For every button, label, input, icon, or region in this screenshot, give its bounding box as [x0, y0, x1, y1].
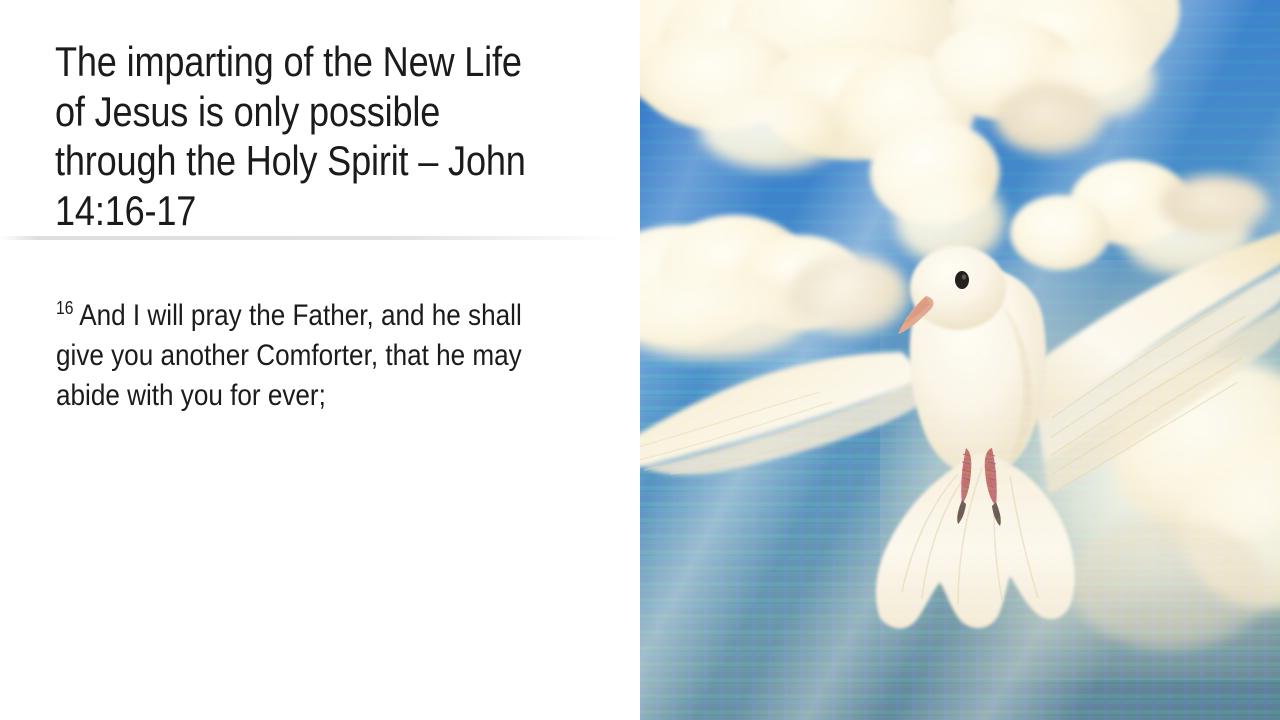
dove-photo	[640, 0, 1280, 720]
cloud-puff	[995, 85, 1105, 155]
scripture-body: 16 And I will pray the Father, and he sh…	[56, 296, 552, 417]
scripture-text: And I will pray the Father, and he shall…	[56, 299, 522, 412]
presentation-slide: The imparting of the New Life of Jesus i…	[0, 0, 1280, 720]
slide-title: The imparting of the New Life of Jesus i…	[55, 37, 541, 235]
cloud-puff	[1010, 195, 1110, 270]
cloud-puff	[1160, 175, 1270, 235]
verse-number: 16	[56, 298, 73, 318]
title-divider	[0, 236, 620, 240]
text-panel: The imparting of the New Life of Jesus i…	[0, 0, 640, 720]
cloud-puff	[1070, 520, 1270, 650]
cloud-puff	[790, 255, 910, 335]
cloud-puff	[700, 90, 850, 170]
cloud-puff	[895, 175, 1005, 265]
